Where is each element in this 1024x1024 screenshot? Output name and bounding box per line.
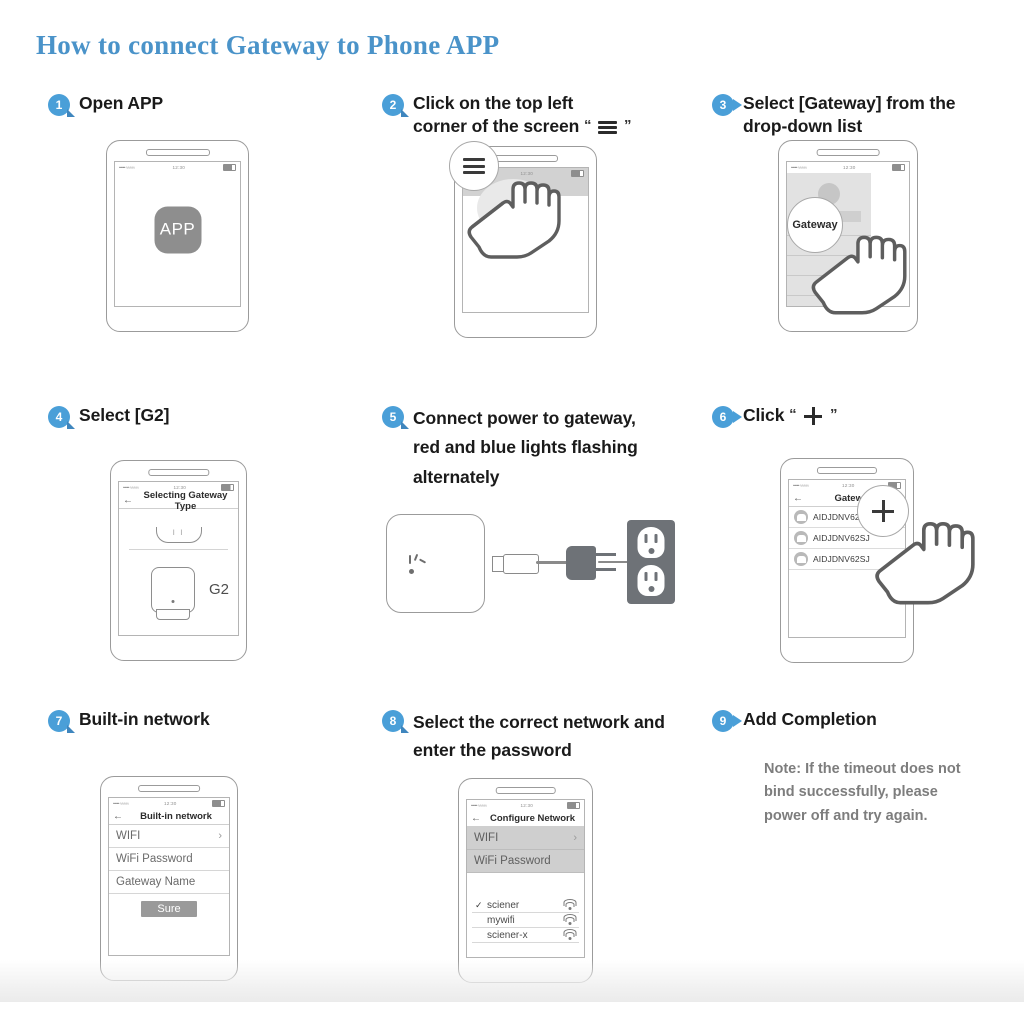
status-carrier: ••••• ≈≈≈≈ — [113, 801, 128, 806]
step-8-number: 8 — [390, 714, 397, 728]
magnifier-bubble-menu — [449, 141, 499, 191]
flashing-led-icon — [405, 553, 425, 575]
status-time: 12:30 — [843, 165, 856, 170]
step-9-label: Add Completion — [743, 708, 877, 731]
step-8-line1: Select the correct network and — [413, 712, 665, 732]
badge-tail-icon — [401, 421, 409, 429]
form-label: WIFI — [116, 830, 140, 842]
note-line1: Note: If the timeout does not — [764, 761, 961, 777]
phone-mockup-2: ••••• ≈≈≈≈ 12:30 — [454, 146, 597, 338]
sure-button[interactable]: Sure — [141, 901, 197, 917]
step-1-label: Open APP — [79, 92, 163, 115]
outlet-socket — [638, 527, 665, 558]
plug-prong — [594, 568, 616, 571]
status-time: 12:30 — [842, 483, 855, 488]
step-2-badge: 2 — [382, 94, 404, 116]
step-9-heading: 9 Add Completion — [712, 708, 877, 732]
step-5-line3: alternately — [413, 467, 499, 487]
phone-screen-1: ••••• ≈≈≈≈ 12:30 APP — [114, 161, 241, 307]
battery-icon — [223, 164, 236, 171]
step-5-line1: Connect power to gateway, — [413, 408, 636, 428]
bottom-gradient-band — [0, 960, 1024, 1002]
step-4: 4 Select [G2] ••••• ≈≈≈≈ 12:30 ← Selecti… — [48, 404, 169, 428]
drawer-item-gateway[interactable]: Gateway — [792, 219, 837, 231]
badge-arrow-icon — [733, 411, 742, 423]
form-row-wifi[interactable]: WIFI › — [467, 827, 584, 850]
wifi-list-item[interactable]: ✓ sciener — [472, 898, 579, 913]
status-time: 12:30 — [172, 165, 185, 170]
badge-tail-icon — [67, 421, 75, 429]
phone-mockup-4: ••••• ≈≈≈≈ 12:30 ← Selecting Gateway Typ… — [110, 460, 247, 661]
chevron-right-icon: › — [573, 832, 577, 844]
plug-prong — [594, 553, 616, 556]
step-2-heading: 2 Click on the top left corner of the sc… — [382, 92, 631, 138]
hamburger-menu-icon — [598, 121, 617, 134]
divider — [129, 549, 229, 550]
step-2: 2 Click on the top left corner of the sc… — [382, 92, 631, 138]
step-8-badge: 8 — [382, 710, 404, 732]
step-3-badge: 3 — [712, 94, 734, 116]
status-bar: ••••• ≈≈≈≈ 12:30 — [787, 162, 909, 173]
badge-tail-icon — [67, 109, 75, 117]
step-3-heading: 3 Select [Gateway] from the drop-down li… — [712, 92, 955, 138]
step-4-number: 4 — [56, 410, 63, 424]
quote-close: ” — [830, 406, 837, 423]
status-bar: ••••• ≈≈≈≈ 12:30 — [115, 162, 240, 173]
gateway-icon — [794, 510, 808, 524]
form-row-password[interactable]: WiFi Password — [109, 848, 229, 871]
wifi-signal-icon — [563, 930, 576, 940]
step-4-label: Select [G2] — [79, 404, 169, 427]
phone-screen-7: ••••• ≈≈≈≈ 12:30 ← Built-in network WIFI… — [108, 797, 230, 956]
wifi-signal-icon — [563, 915, 576, 925]
network-form: WIFI › WiFi Password Gateway Name Sure — [109, 825, 229, 917]
chevron-right-icon: › — [218, 830, 222, 842]
step-1-heading: 1 Open APP — [48, 92, 163, 116]
badge-tail-icon — [401, 725, 409, 733]
status-bar: ••••• ≈≈≈≈ 12:30 — [109, 798, 229, 809]
steps-grid: 1 Open APP ••••• ≈≈≈≈ 12:30 APP — [0, 0, 1024, 1024]
step-5-line2: red and blue lights flashing — [413, 437, 638, 457]
step-2-line1: Click on the top left — [413, 93, 573, 113]
status-carrier: ••••• ≈≈≈≈ — [793, 483, 808, 488]
step-2-label: Click on the top left corner of the scre… — [413, 92, 631, 138]
gateway-device-partial-icon: l l — [156, 527, 202, 543]
app-bar-title: Configure Network — [485, 813, 580, 824]
form-row-password[interactable]: WiFi Password — [467, 850, 584, 873]
status-carrier: ••••• ≈≈≈≈ — [791, 165, 806, 170]
phone-speaker-icon — [495, 787, 556, 794]
form-label: WiFi Password — [116, 853, 193, 865]
step-4-heading: 4 Select [G2] — [48, 404, 169, 428]
phone-mockup-7: ••••• ≈≈≈≈ 12:30 ← Built-in network WIFI… — [100, 776, 238, 981]
step-3: 3 Select [Gateway] from the drop-down li… — [712, 92, 955, 138]
phone-speaker-icon — [138, 785, 200, 792]
quote-open: “ — [584, 117, 591, 134]
phone-speaker-icon — [817, 467, 877, 474]
back-arrow-icon[interactable]: ← — [113, 811, 123, 822]
form-label: WIFI — [474, 832, 498, 844]
badge-arrow-icon — [733, 99, 742, 111]
step-2-line2: corner of the screen — [413, 116, 579, 136]
step-9: 9 Add Completion Note: If the timeout do… — [712, 708, 877, 732]
phone-speaker-icon — [493, 155, 557, 162]
app-bar: ← Built-in network — [109, 809, 229, 825]
wifi-signal-icon — [563, 900, 576, 910]
step-3-line2: drop-down list — [743, 116, 862, 136]
step-7-label: Built-in network — [79, 708, 210, 731]
app-icon[interactable]: APP — [154, 206, 201, 253]
step-5-number: 5 — [390, 410, 397, 424]
device-model-label: G2 — [209, 581, 229, 598]
plus-icon — [804, 407, 822, 425]
step-6-badge: 6 — [712, 406, 734, 428]
step-6-text: Click — [743, 405, 784, 425]
step-6: 6 Click “ ” ••••• ≈≈≈≈ 12:30 — [712, 404, 837, 428]
power-connection-illustration — [382, 508, 682, 618]
step-9-number: 9 — [720, 714, 727, 728]
badge-tail-icon — [67, 725, 75, 733]
status-time: 12:30 — [520, 803, 533, 808]
note-line3: power off and try again. — [764, 808, 928, 824]
form-row-gateway-name[interactable]: Gateway Name — [109, 871, 229, 894]
wifi-name: sciener-x — [487, 930, 528, 941]
phone-screen-8: ••••• ≈≈≈≈ 12:30 ← Configure Network WIF… — [466, 799, 585, 958]
step-9-badge: 9 — [712, 710, 734, 732]
back-arrow-icon[interactable]: ← — [471, 813, 481, 824]
step-6-label: Click “ ” — [743, 404, 837, 427]
step-8: 8 Select the correct network and enter t… — [382, 708, 665, 765]
step-5: 5 Connect power to gateway, red and blue… — [382, 404, 638, 492]
form-label: Gateway Name — [116, 876, 195, 888]
step-8-label: Select the correct network and enter the… — [413, 708, 665, 765]
back-arrow-icon[interactable]: ← — [123, 495, 133, 506]
step-5-badge: 5 — [382, 406, 404, 428]
plus-icon[interactable] — [872, 500, 894, 522]
phone-speaker-icon — [817, 149, 880, 156]
gateway-device — [386, 514, 485, 613]
step-3-label: Select [Gateway] from the drop-down list — [743, 92, 955, 138]
led-dot-icon — [172, 600, 175, 603]
app-bar: ← Configure Network — [467, 811, 584, 827]
note-line2: bind successfully, please — [764, 784, 938, 800]
magnifier-bubble-gateway: Gateway — [787, 197, 843, 253]
step-6-number: 6 — [720, 410, 727, 424]
app-bar: ← Selecting Gateway Type — [119, 493, 238, 509]
device-base — [156, 609, 190, 620]
wifi-name: mywifi — [487, 915, 515, 926]
step-3-line1: Select [Gateway] from the — [743, 93, 955, 113]
battery-icon — [892, 164, 905, 171]
power-plug-icon — [566, 546, 596, 580]
badge-arrow-icon — [733, 715, 742, 727]
phone-screen-4: ••••• ≈≈≈≈ 12:30 ← Selecting Gateway Typ… — [118, 481, 239, 636]
usb-connector-icon — [503, 554, 539, 574]
form-row-wifi[interactable]: WIFI › — [109, 825, 229, 848]
step-5-heading: 5 Connect power to gateway, red and blue… — [382, 404, 638, 492]
status-carrier: ••••• ≈≈≈≈ — [119, 165, 134, 170]
step-1-number: 1 — [56, 98, 63, 112]
step-7: 7 Built-in network ••••• ≈≈≈≈ 12:30 ← Bu… — [48, 708, 210, 732]
instruction-page: How to connect Gateway to Phone APP 1 Op… — [0, 0, 1024, 1024]
step-5-label: Connect power to gateway, red and blue l… — [413, 404, 638, 492]
outlet-socket — [638, 565, 665, 596]
step-1: 1 Open APP ••••• ≈≈≈≈ 12:30 APP — [48, 92, 163, 116]
step-8-line2: enter the password — [413, 740, 572, 760]
led-indicator-icon: l l — [173, 530, 184, 537]
quote-open: “ — [789, 406, 796, 423]
gateway-id: AIDJDNV62SJ — [813, 533, 870, 543]
status-carrier: ••••• ≈≈≈≈ — [471, 803, 486, 808]
step-1-badge: 1 — [48, 94, 70, 116]
completion-note: Note: If the timeout does not bind succe… — [764, 758, 1024, 828]
network-form: WIFI › WiFi Password — [467, 827, 584, 873]
app-bar-title: Built-in network — [127, 811, 225, 822]
phone-mockup-3: ••••• ≈≈≈≈ 12:30 Gatewa — [778, 140, 918, 332]
battery-icon — [567, 802, 580, 809]
step-8-heading: 8 Select the correct network and enter t… — [382, 708, 665, 765]
phone-mockup-8: ••••• ≈≈≈≈ 12:30 ← Configure Network WIF… — [458, 778, 593, 983]
battery-icon — [212, 800, 225, 807]
magnifier-bubble-plus — [857, 485, 909, 537]
gateway-id: AIDJDNV62SJ — [813, 554, 870, 564]
phone-speaker-icon — [145, 149, 209, 156]
step-7-number: 7 — [56, 714, 63, 728]
step-6-heading: 6 Click “ ” — [712, 404, 837, 428]
badge-tail-icon — [401, 109, 409, 117]
wifi-list-item[interactable]: mywifi — [472, 913, 579, 928]
step-4-badge: 4 — [48, 406, 70, 428]
hamburger-menu-icon[interactable] — [463, 158, 485, 174]
step-7-heading: 7 Built-in network — [48, 708, 210, 732]
back-arrow-icon[interactable]: ← — [793, 493, 803, 504]
status-time: 12:30 — [164, 801, 177, 806]
status-bar: ••••• ≈≈≈≈ 12:30 — [467, 800, 584, 811]
gateway-icon — [794, 531, 808, 545]
quote-close: ” — [624, 117, 631, 134]
battery-icon — [571, 170, 584, 177]
form-label: WiFi Password — [474, 855, 551, 867]
wifi-list-item[interactable]: sciener-x — [472, 928, 579, 943]
step-7-badge: 7 — [48, 710, 70, 732]
power-cable — [536, 561, 568, 564]
wifi-name: sciener — [487, 900, 519, 911]
gateway-device-icon[interactable] — [151, 567, 195, 613]
wifi-network-list: ✓ sciener mywifi — [472, 898, 579, 943]
phone-mockup-6: ••••• ≈≈≈≈ 12:30 ← Gateway AIDJDNV62SJ — [780, 458, 914, 663]
phone-mockup-1: ••••• ≈≈≈≈ 12:30 APP — [106, 140, 249, 332]
phone-speaker-icon — [148, 469, 209, 476]
check-icon: ✓ — [475, 900, 484, 911]
step-2-number: 2 — [390, 98, 397, 112]
step-3-number: 3 — [720, 98, 727, 112]
wall-outlet-icon — [627, 520, 675, 604]
gateway-icon — [794, 552, 808, 566]
